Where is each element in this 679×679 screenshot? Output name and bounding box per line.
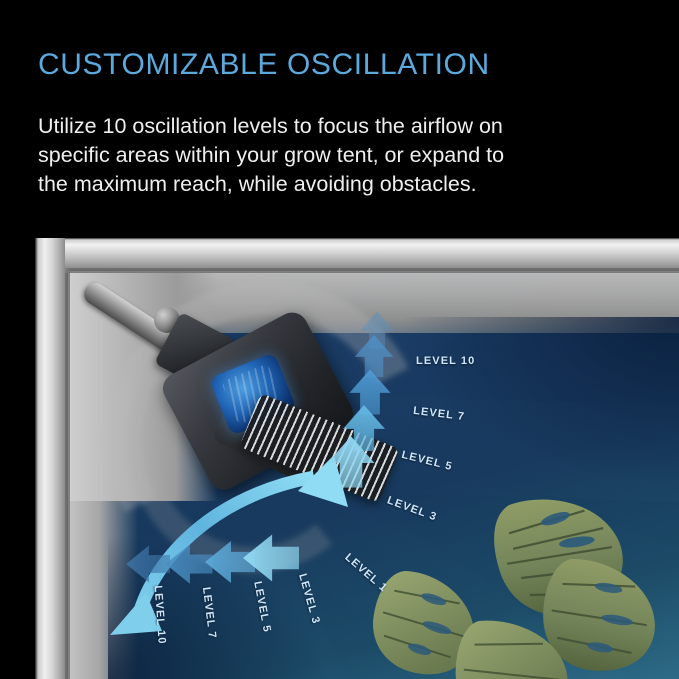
page-title: CUSTOMIZABLE OSCILLATION: [38, 48, 490, 82]
description-text: Utilize 10 oscillation levels to focus t…: [38, 112, 638, 199]
level-label-upper: LEVEL 10: [416, 355, 475, 367]
frame-edge-left: [35, 238, 65, 679]
description-line-1: Utilize 10 oscillation levels to focus t…: [38, 112, 638, 141]
grow-tent-scene: LEVEL 10LEVEL 7LEVEL 5LEVEL 3LEVEL 1LEVE…: [68, 271, 679, 679]
product-image: LEVEL 10LEVEL 7LEVEL 5LEVEL 3LEVEL 1LEVE…: [35, 238, 679, 679]
description-line-2: specific areas within your grow tent, or…: [38, 141, 638, 170]
frame-edge-top: [35, 238, 679, 268]
description-line-3: the maximum reach, while avoiding obstac…: [38, 170, 638, 199]
product-feature-slide: CUSTOMIZABLE OSCILLATION Utilize 10 osci…: [0, 0, 679, 679]
